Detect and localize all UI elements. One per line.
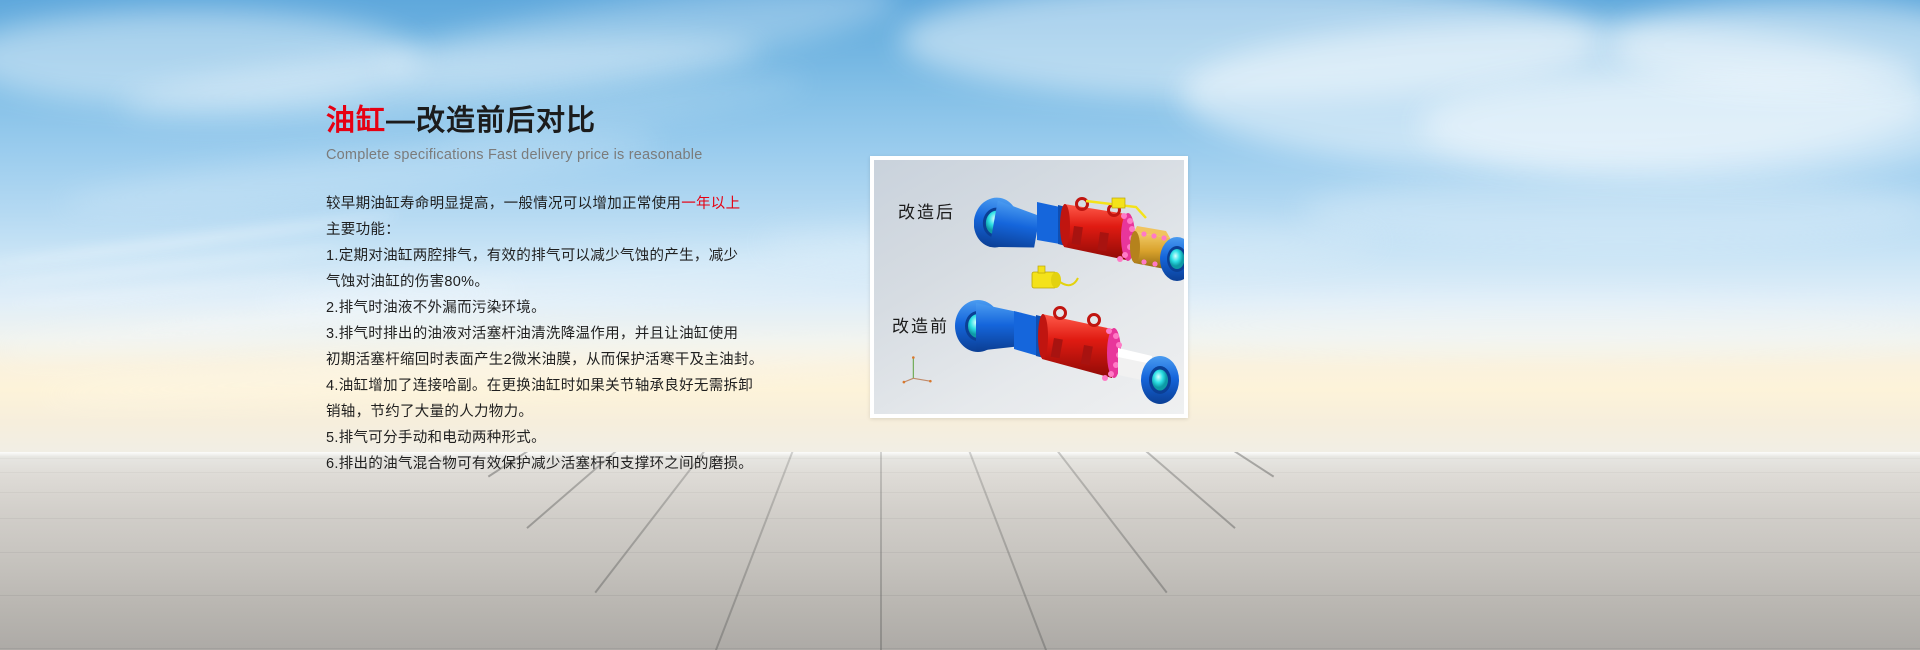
feature-text-line: 较早期油缸寿命明显提高，一般情况可以增加正常使用一年以上 bbox=[326, 191, 886, 217]
feature-text: 1.定期对油缸两腔排气，有效的排气可以减少气蚀的产生，减少 bbox=[326, 248, 738, 264]
feature-text-line: 销轴，节约了大量的人力物力。 bbox=[326, 399, 886, 425]
cloud-streak bbox=[0, 243, 349, 288]
feature-text: 初期活塞杆缩回时表面产生2微米油膜，从而保护活寒干及主油封。 bbox=[326, 352, 764, 368]
coordinate-axis-icon bbox=[900, 350, 938, 384]
feature-text-list: 较早期油缸寿命明显提高，一般情况可以增加正常使用一年以上主要功能：1.定期对油缸… bbox=[326, 191, 886, 477]
page-title: 油缸—改造前后对比 bbox=[326, 106, 886, 138]
ground-seam bbox=[880, 452, 1050, 650]
banner-hero: 油缸—改造前后对比 Complete specifications Fast d… bbox=[0, 0, 1920, 650]
cad-label-after: 改造后 bbox=[898, 198, 955, 223]
ground-seam bbox=[880, 452, 1167, 593]
ground-seam bbox=[712, 452, 882, 650]
ground-tile-line bbox=[0, 518, 1920, 519]
feature-text-line: 5.排气可分手动和电动两种形式。 bbox=[326, 425, 886, 451]
hero-copy-block: 油缸—改造前后对比 Complete specifications Fast d… bbox=[326, 106, 886, 477]
feature-text: 主要功能： bbox=[326, 222, 400, 238]
ground-tile-line bbox=[0, 492, 1920, 493]
feature-text: 3.排气时排出的油液对活塞杆油清洗降温作用，并且让油缸使用 bbox=[326, 326, 738, 342]
title-rest: —改造前后对比 bbox=[386, 105, 596, 137]
feature-text-highlight: 一年以上 bbox=[681, 196, 740, 212]
ground-tile-line bbox=[0, 552, 1920, 553]
feature-text-line: 气蚀对油缸的伤害80%。 bbox=[326, 269, 886, 295]
feature-text-line: 初期活塞杆缩回时表面产生2微米油膜，从而保护活寒干及主油封。 bbox=[326, 347, 886, 373]
ground-tile-line bbox=[0, 648, 1920, 649]
cloud-shape bbox=[1300, 175, 1920, 245]
ground-plane bbox=[0, 452, 1920, 650]
feature-text: 6.排出的油气混合物可有效保护减少活塞杆和支撑环之间的磨损。 bbox=[326, 456, 753, 472]
cloud-shape bbox=[1150, 300, 1920, 350]
feature-text-line: 4.油缸增加了连接哈副。在更换油缸时如果关节轴承良好无需拆卸 bbox=[326, 373, 886, 399]
cad-image-panel: 改造后 改造前 bbox=[870, 156, 1188, 418]
feature-text: 较早期油缸寿命明显提高，一般情况可以增加正常使用 bbox=[326, 196, 681, 212]
cad-label-before: 改造前 bbox=[892, 312, 949, 337]
ground-tile-line bbox=[0, 595, 1920, 596]
feature-text: 4.油缸增加了连接哈副。在更换油缸时如果关节轴承良好无需拆卸 bbox=[326, 378, 753, 394]
feature-text-line: 6.排出的油气混合物可有效保护减少活塞杆和支撑环之间的磨损。 bbox=[326, 451, 886, 477]
feature-text-line: 1.定期对油缸两腔排气，有效的排气可以减少气蚀的产生，减少 bbox=[326, 243, 886, 269]
title-highlight: 油缸 bbox=[326, 105, 386, 137]
ground-tile-line bbox=[0, 458, 1920, 459]
feature-text: 5.排气可分手动和电动两种形式。 bbox=[326, 430, 546, 446]
feature-text: 2.排气时油液不外漏而污染环境。 bbox=[326, 300, 546, 316]
feature-text-line: 主要功能： bbox=[326, 217, 886, 243]
hydraulic-cylinder-before-illustration bbox=[946, 286, 1186, 418]
ground-seam bbox=[880, 452, 1274, 477]
feature-text: 气蚀对油缸的伤害80%。 bbox=[326, 274, 489, 290]
feature-text-line: 2.排气时油液不外漏而污染环境。 bbox=[326, 295, 886, 321]
feature-text-line: 3.排气时排出的油液对活塞杆油清洗降温作用，并且让油缸使用 bbox=[326, 321, 886, 347]
page-subtitle: Complete specifications Fast delivery pr… bbox=[326, 147, 886, 163]
feature-text: 销轴，节约了大量的人力物力。 bbox=[326, 404, 533, 420]
ground-tile-line bbox=[0, 472, 1920, 473]
ground-seam bbox=[880, 452, 882, 650]
